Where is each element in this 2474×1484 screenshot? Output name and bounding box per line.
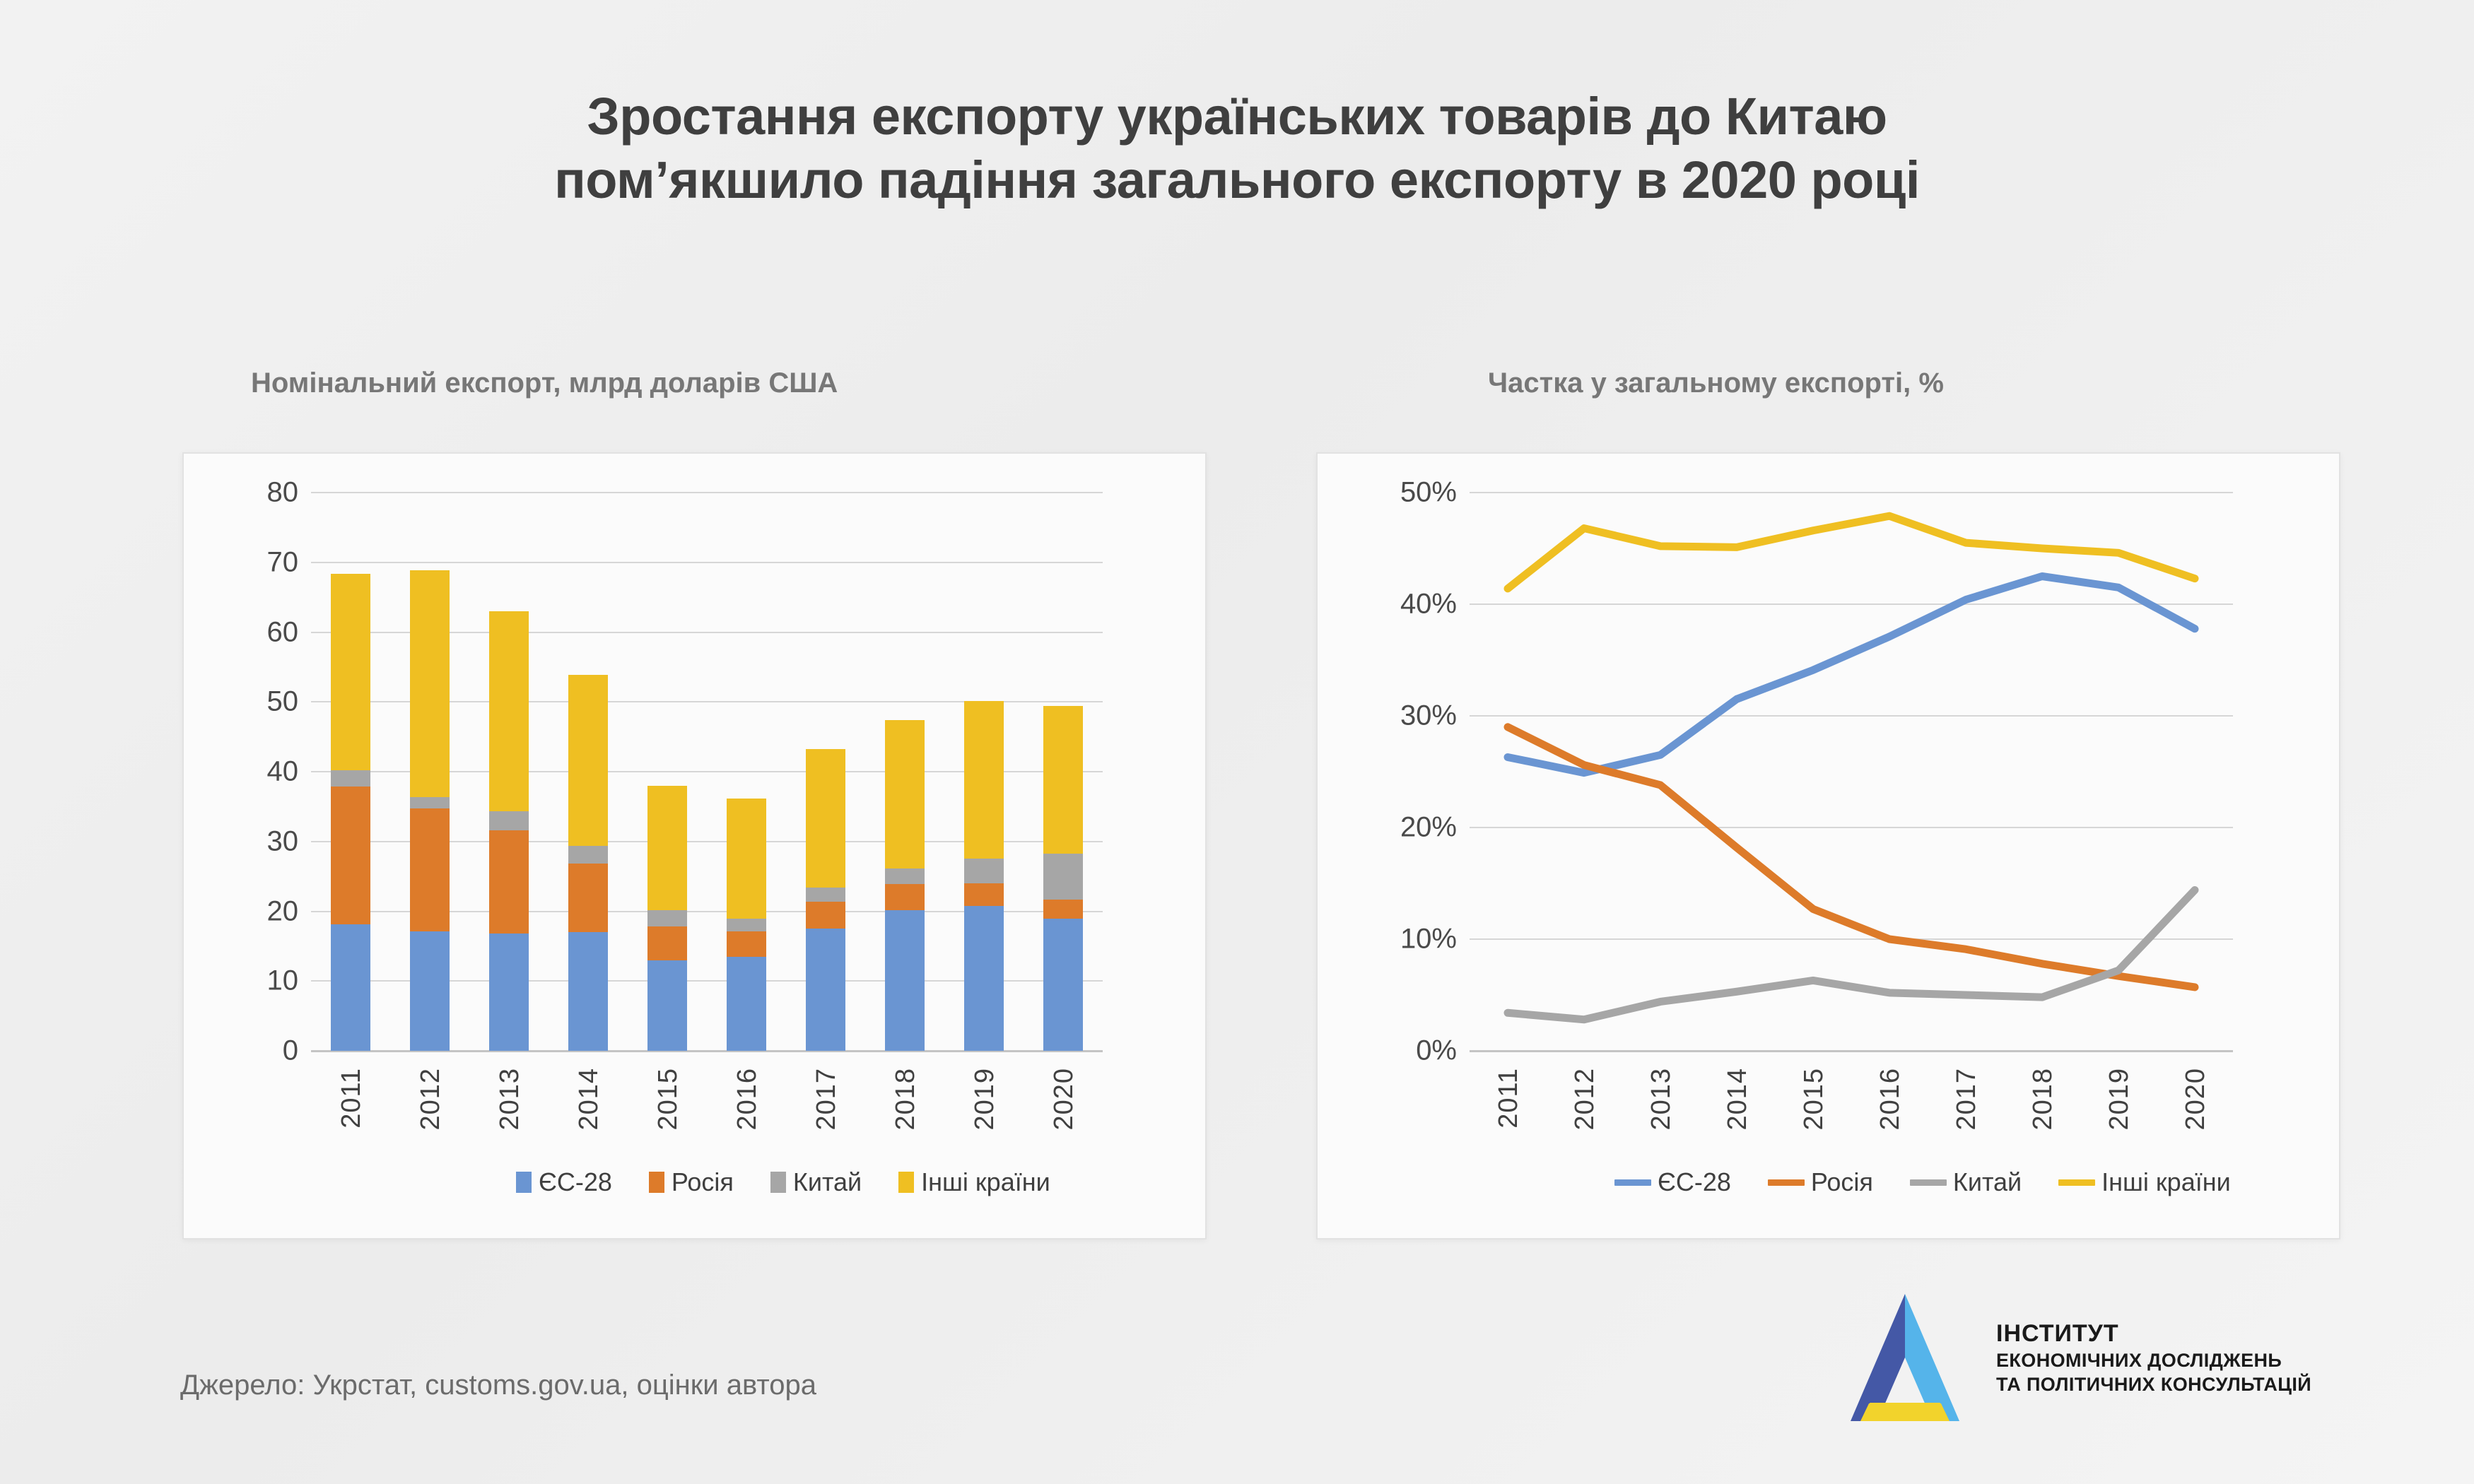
x-axis-tick-label: 2014 — [1723, 1068, 1753, 1131]
legend-line-swatch — [1614, 1179, 1651, 1186]
bar-segment[interactable] — [568, 846, 608, 864]
x-axis-tick-label: 2016 — [732, 1068, 763, 1131]
legend-label: Росія — [1811, 1167, 1873, 1197]
logo-line-2: ЕКОНОМІЧНИХ ДОСЛІДЖЕНЬ — [1996, 1348, 2311, 1373]
bar-segment[interactable] — [331, 787, 370, 925]
y-axis-tick-label: 50% — [1337, 477, 1457, 509]
y-axis-tick-label: 70 — [192, 546, 298, 578]
x-axis-tick-label: 2020 — [1049, 1068, 1079, 1131]
bar-segment[interactable] — [410, 797, 450, 809]
bar-segment[interactable] — [727, 919, 766, 931]
bar-segment[interactable] — [568, 864, 608, 932]
bar-segment[interactable] — [885, 884, 925, 910]
x-axis-tick-label: 2019 — [2104, 1068, 2135, 1131]
legend-swatch — [898, 1172, 914, 1193]
x-axis-tick-label: 2018 — [891, 1068, 921, 1131]
title-line-2: пом’якшило падіння загального експорту в… — [0, 148, 2474, 212]
source-note: Джерело: Укрстат, customs.gov.ua, оцінки… — [180, 1370, 816, 1401]
chart-header-share: Частка у загальному експорті, % — [1488, 367, 1944, 399]
bar-segment[interactable] — [727, 799, 766, 919]
triangle-logo-icon — [1838, 1290, 1972, 1427]
legend-label: Росія — [672, 1167, 734, 1197]
line-chart-plot-area: 0%10%20%30%40%50%20112012201320142015201… — [1470, 493, 2233, 1051]
bar-segment[interactable] — [1043, 706, 1083, 853]
legend-item[interactable]: Росія — [649, 1167, 734, 1197]
bar-segment[interactable] — [489, 611, 529, 811]
bar-segment[interactable] — [331, 924, 370, 1051]
bar-segment[interactable] — [647, 926, 687, 960]
y-axis-tick-label: 40% — [1337, 589, 1457, 620]
legend-item[interactable]: ЄС-28 — [1614, 1167, 1731, 1197]
bar-chart-card: 0102030405060708020112012201320142015201… — [182, 452, 1207, 1239]
bar-segment[interactable] — [806, 888, 845, 902]
organization-logo: ІНСТИТУТ ЕКОНОМІЧНИХ ДОСЛІДЖЕНЬ ТА ПОЛІТ… — [1838, 1290, 2311, 1427]
y-axis-tick-label: 20% — [1337, 812, 1457, 844]
x-axis-tick-label: 2015 — [653, 1068, 684, 1131]
bar-stack[interactable] — [806, 493, 845, 1051]
bar-stack[interactable] — [1043, 493, 1083, 1051]
line-series[interactable] — [1508, 577, 2195, 773]
y-axis-tick-label: 30% — [1337, 700, 1457, 732]
bar-segment[interactable] — [885, 868, 925, 884]
x-axis-tick-label: 2014 — [574, 1068, 604, 1131]
bar-stack[interactable] — [410, 493, 450, 1051]
legend-label: Китай — [793, 1167, 862, 1197]
y-axis-tick-label: 80 — [192, 477, 298, 509]
x-axis-tick-label: 2012 — [416, 1068, 446, 1131]
x-axis-tick-label: 2015 — [1799, 1068, 1829, 1131]
y-axis-tick-label: 30 — [192, 825, 298, 857]
legend-item[interactable]: ЄС-28 — [516, 1167, 612, 1197]
legend-label: Інші країни — [921, 1167, 1050, 1197]
bar-segment[interactable] — [410, 808, 450, 931]
bar-segment[interactable] — [964, 883, 1004, 906]
legend-item[interactable]: Інші країни — [898, 1167, 1050, 1197]
bar-segment[interactable] — [727, 931, 766, 957]
chart-header-nominal-export: Номінальний експорт, млрд доларів США — [251, 367, 838, 399]
y-axis-tick-label: 10% — [1337, 924, 1457, 955]
bar-segment[interactable] — [568, 932, 608, 1051]
x-axis-tick-label: 2017 — [1952, 1068, 1982, 1131]
y-axis-tick-label: 0 — [192, 1035, 298, 1067]
bar-stack[interactable] — [647, 493, 687, 1051]
bar-stack[interactable] — [885, 493, 925, 1051]
logo-text-block: ІНСТИТУТ ЕКОНОМІЧНИХ ДОСЛІДЖЕНЬ ТА ПОЛІТ… — [1996, 1320, 2311, 1396]
bar-segment[interactable] — [568, 675, 608, 846]
bar-segment[interactable] — [885, 910, 925, 1051]
bar-stack[interactable] — [727, 493, 766, 1051]
legend-swatch — [516, 1172, 532, 1193]
x-axis-tick-label: 2020 — [2181, 1068, 2211, 1131]
y-axis-tick-label: 60 — [192, 616, 298, 648]
bar-segment[interactable] — [647, 786, 687, 910]
bar-stack[interactable] — [331, 493, 370, 1051]
legend-line-swatch — [2058, 1179, 2095, 1186]
bar-segment[interactable] — [885, 720, 925, 868]
bar-segment[interactable] — [964, 906, 1004, 1051]
y-axis-tick-label: 40 — [192, 756, 298, 788]
bar-segment[interactable] — [410, 931, 450, 1051]
slide-root: Зростання експорту українських товарів д… — [0, 0, 2474, 1484]
bar-segment[interactable] — [806, 902, 845, 929]
legend-label: Інші країни — [2101, 1167, 2231, 1197]
legend-label: ЄС-28 — [539, 1167, 612, 1197]
bar-segment[interactable] — [1043, 900, 1083, 919]
bar-chart-plot-area: 0102030405060708020112012201320142015201… — [311, 493, 1103, 1051]
bar-segment[interactable] — [647, 910, 687, 927]
title-line-1: Зростання експорту українських товарів д… — [0, 85, 2474, 148]
line-chart-legend: ЄС-28РосіяКитайІнші країни — [1614, 1167, 2268, 1197]
line-series[interactable] — [1508, 890, 2195, 1019]
y-axis-tick-label: 50 — [192, 686, 298, 718]
legend-item[interactable]: Китай — [1910, 1167, 2022, 1197]
legend-label: ЄС-28 — [1658, 1167, 1731, 1197]
bar-segment[interactable] — [489, 934, 529, 1051]
bar-stack[interactable] — [964, 493, 1004, 1051]
x-axis-tick-label: 2011 — [336, 1068, 367, 1129]
legend-item[interactable]: Росія — [1768, 1167, 1873, 1197]
legend-swatch — [770, 1172, 786, 1193]
legend-label: Китай — [1953, 1167, 2022, 1197]
x-axis-tick-label: 2012 — [1570, 1068, 1600, 1131]
bar-segment[interactable] — [489, 830, 529, 934]
y-axis-tick-label: 20 — [192, 895, 298, 927]
y-axis-tick-label: 10 — [192, 965, 298, 997]
legend-line-swatch — [1768, 1179, 1805, 1186]
logo-line-3: ТА ПОЛІТИЧНИХ КОНСУЛЬТАЦІЙ — [1996, 1372, 2311, 1397]
legend-line-swatch — [1910, 1179, 1947, 1186]
bar-segment[interactable] — [647, 960, 687, 1051]
bar-chart-legend: ЄС-28РосіяКитайІнші країни — [516, 1167, 1087, 1197]
page-title: Зростання експорту українських товарів д… — [0, 85, 2474, 213]
x-axis-tick-label: 2019 — [970, 1068, 1000, 1131]
line-chart-card: 0%10%20%30%40%50%20112012201320142015201… — [1316, 452, 2340, 1239]
bar-stack[interactable] — [568, 493, 608, 1051]
bar-stack[interactable] — [489, 493, 529, 1051]
x-axis-tick-label: 2017 — [811, 1068, 842, 1131]
x-axis-tick-label: 2013 — [495, 1068, 525, 1131]
x-axis-tick-label: 2016 — [1875, 1068, 1906, 1131]
logo-line-1: ІНСТИТУТ — [1996, 1320, 2311, 1348]
bar-segment[interactable] — [806, 929, 845, 1051]
bar-segment[interactable] — [410, 570, 450, 797]
x-axis-tick-label: 2013 — [1646, 1068, 1677, 1131]
bar-segment[interactable] — [964, 701, 1004, 859]
line-series[interactable] — [1508, 516, 2195, 589]
x-axis-tick-label: 2011 — [1494, 1068, 1524, 1129]
bar-segment[interactable] — [1043, 919, 1083, 1051]
bar-segment[interactable] — [489, 811, 529, 830]
legend-item[interactable]: Інші країни — [2058, 1167, 2231, 1197]
line-series-canvas — [1470, 493, 2233, 1051]
legend-item[interactable]: Китай — [770, 1167, 862, 1197]
bar-segment[interactable] — [331, 770, 370, 787]
x-axis-tick-label: 2018 — [2028, 1068, 2058, 1131]
y-axis-tick-label: 0% — [1337, 1035, 1457, 1067]
legend-swatch — [649, 1172, 664, 1193]
bar-segment[interactable] — [331, 574, 370, 770]
bar-segment[interactable] — [964, 859, 1004, 883]
bar-segment[interactable] — [806, 749, 845, 888]
bar-segment[interactable] — [1043, 854, 1083, 900]
bar-segment[interactable] — [727, 957, 766, 1051]
